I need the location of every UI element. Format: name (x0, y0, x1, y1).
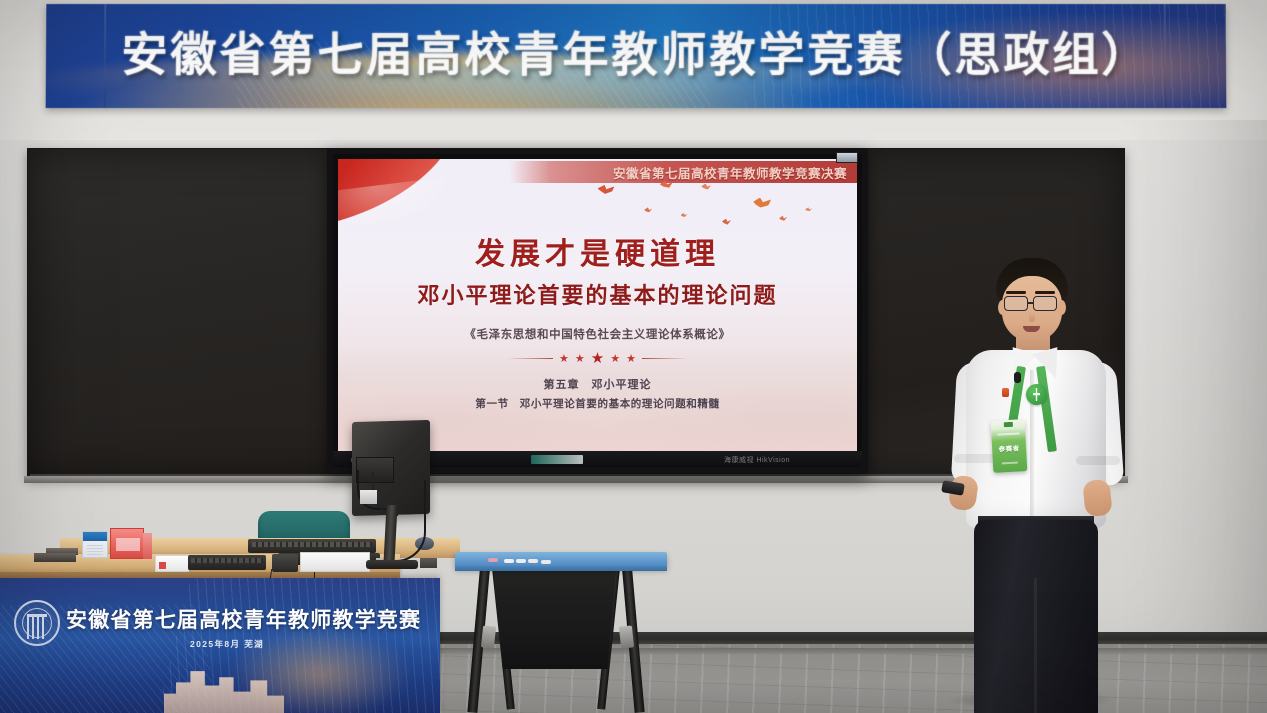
white-document-tray (300, 552, 370, 572)
slide-star-divider: ★ ★ ★ ★ ★ (338, 351, 857, 366)
clip-microphone-icon (1014, 372, 1021, 383)
desk-banner-date: 2025年8月 芜湖 (190, 638, 264, 650)
bird-icon (753, 198, 771, 208)
display-status-label (531, 455, 583, 464)
badge-footer-line (1002, 462, 1018, 464)
presenter-right-hand (1082, 479, 1113, 518)
paper-box-red-small (143, 533, 152, 559)
presenter-eyebrow (1035, 291, 1055, 294)
chalk-piece[interactable] (516, 559, 526, 563)
bird-icon (681, 213, 688, 217)
bird-icon (644, 207, 652, 212)
presentation-slide: 安徽省第七届高校青年教师教学竞赛决赛 发展才是硬道理 邓小平理论首要的基本的理论… (338, 159, 857, 451)
paper-box-blue (82, 531, 108, 558)
bird-icon (805, 207, 812, 211)
presentation-clicker[interactable] (941, 480, 965, 496)
university-seal-icon (14, 600, 60, 646)
badge-line (997, 432, 1019, 435)
desk-banner-title: 安徽省第七届高校青年教师教学竞赛 (66, 604, 436, 634)
slide-section: 第一节 邓小平理论首要的基本的理论问题和精髓 (338, 396, 857, 411)
monitor-base (366, 560, 418, 569)
badge-clip (1003, 422, 1012, 427)
sleeve-hem (1076, 456, 1120, 465)
venue-banner-title: 安徽省第七届高校青年教师教学竞赛（思政组） (46, 18, 1226, 84)
bird-icon (660, 181, 673, 188)
chalk-piece[interactable] (488, 558, 498, 562)
classroom-scene: 安徽省第七届高校青年教师教学竞赛（思政组） 安徽省第七届高校青年教师教学竞赛决赛 (0, 0, 1267, 713)
presenter-nose (1029, 312, 1035, 322)
monitor-cable-clip (360, 490, 377, 504)
presenter-eyebrow (1006, 291, 1026, 294)
glasses-icon (1004, 296, 1028, 311)
table-edge (455, 566, 667, 571)
table-bracket (481, 625, 496, 648)
paper-box-red (110, 528, 144, 559)
glasses-bridge (1028, 302, 1034, 304)
display-brand-label: 海康威视 HikVision (724, 455, 790, 465)
divider-line-left (507, 358, 553, 359)
bird-icon (779, 216, 787, 221)
table-bracket (619, 625, 634, 648)
desk-tray (34, 553, 76, 562)
glasses-icon (1033, 296, 1057, 311)
slide-title: 发展才是硬道理 (338, 229, 857, 273)
slide-text-block: 发展才是硬道理 邓小平理论首要的基本的理论问题 《毛泽东思想和中国特色社会主义理… (338, 229, 857, 411)
chalk-piece[interactable] (504, 559, 514, 563)
lapel-pin-icon (1002, 388, 1009, 397)
presenter-ear (1057, 300, 1066, 315)
star-icon: ★ (559, 353, 569, 364)
badge-label: 参赛者 (998, 442, 1019, 453)
star-icon: ★ (591, 351, 604, 366)
keyboard-rear[interactable] (248, 539, 376, 553)
sleeve-hem (954, 454, 998, 463)
presenter: 参赛者 (930, 258, 1140, 713)
slide-subtitle: 邓小平理论首要的基本的理论问题 (338, 278, 857, 310)
slide-book-reference: 《毛泽东思想和中国特色社会主义理论体系概论》 (338, 326, 857, 342)
display-screen[interactable]: 安徽省第七届高校青年教师教学竞赛决赛 发展才是硬道理 邓小平理论首要的基本的理论… (338, 159, 857, 451)
star-icon: ★ (575, 353, 585, 364)
chalk-piece[interactable] (541, 560, 551, 564)
bird-icon (597, 185, 614, 194)
venue-banner: 安徽省第七届高校青年教师教学竞赛（思政组） (46, 4, 1227, 108)
bird-icon (722, 219, 731, 225)
bird-icon (701, 184, 711, 190)
keyboard[interactable] (188, 555, 266, 570)
display-corner-indicator (836, 152, 858, 163)
star-icon: ★ (610, 353, 620, 364)
tissue-box (155, 555, 189, 572)
trouser-seam (1034, 578, 1037, 713)
participant-badge: 参赛者 (991, 419, 1028, 473)
table-modesty-panel (494, 571, 616, 669)
slide-chapter: 第五章 邓小平理论 (338, 376, 857, 392)
school-emblem-icon (1026, 384, 1047, 405)
star-icon: ★ (626, 353, 636, 364)
divider-line-right (642, 358, 688, 359)
chalk-piece[interactable] (528, 559, 538, 563)
small-device-dark (420, 558, 437, 568)
